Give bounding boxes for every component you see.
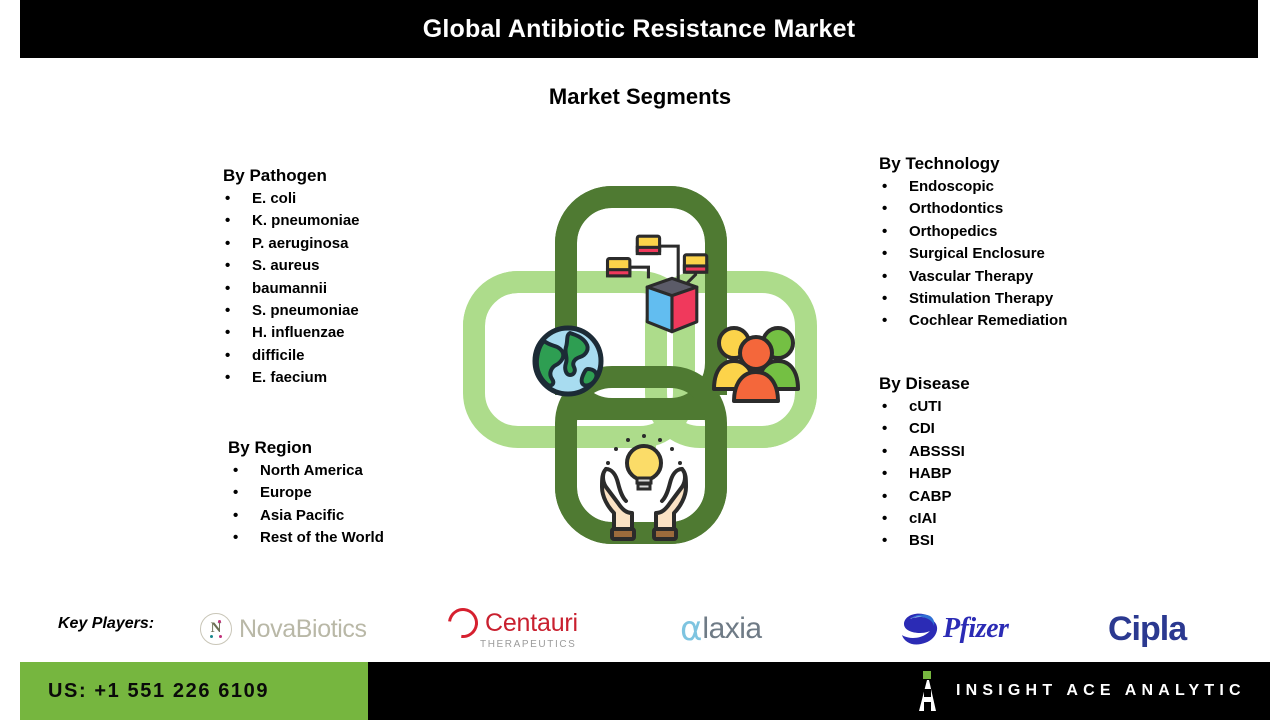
- segment-block-region: By Region •North America •Europe •Asia P…: [228, 437, 384, 550]
- footer-phone-text: US: +1 551 226 6109: [48, 680, 269, 703]
- logo-centauri: Centauri THERAPEUTICS: [448, 596, 578, 662]
- list-item-label: Endoscopic: [909, 178, 994, 195]
- list-item: •Asia Pacific: [228, 505, 384, 527]
- novabiotics-dot-icon: [210, 635, 213, 638]
- segment-heading-region: By Region: [228, 437, 384, 458]
- alaxia-wordmark: laxia: [702, 612, 761, 646]
- list-item-label: K. pneumoniae: [252, 212, 360, 229]
- segment-block-disease: By Disease •cUTI •CDI •ABSSSI •HABP •CAB…: [879, 373, 970, 553]
- bullet-icon: •: [882, 288, 887, 310]
- list-item-label: Surgical Enclosure: [909, 245, 1045, 262]
- centauri-wordmark: Centauri: [485, 609, 578, 638]
- list-item-label: baumannii: [252, 280, 327, 297]
- people-group-icon: [714, 328, 798, 401]
- bullet-icon: •: [882, 396, 887, 418]
- bullet-icon: •: [225, 278, 230, 300]
- novabiotics-dot-icon: [219, 635, 222, 638]
- bullet-icon: •: [233, 482, 238, 504]
- insight-ace-logo-icon: [916, 671, 940, 711]
- list-item: •HABP: [879, 463, 970, 485]
- bullet-icon: •: [882, 243, 887, 265]
- header-bar: Global Antibiotic Resistance Market: [20, 0, 1258, 58]
- list-item: •K. pneumoniae: [222, 210, 360, 232]
- list-item-label: ABSSSI: [909, 443, 965, 460]
- novabiotics-mark-icon: N: [200, 613, 232, 645]
- list-item: •Europe: [228, 482, 384, 504]
- list-item-label: H. influenzae: [252, 324, 345, 341]
- list-item: •S. aureus: [222, 255, 360, 277]
- logo-cipla: Cipla: [1108, 596, 1186, 662]
- bullet-icon: •: [882, 530, 887, 552]
- list-item: •Cochlear Remediation: [879, 310, 1067, 332]
- bullet-icon: •: [225, 367, 230, 389]
- list-item-label: CDI: [909, 420, 935, 437]
- bullet-icon: •: [225, 345, 230, 367]
- centauri-top-row: Centauri: [448, 608, 578, 638]
- list-item-label: Cochlear Remediation: [909, 312, 1067, 329]
- list-item: •E. coli: [222, 188, 360, 210]
- list-item: •ABSSSI: [879, 441, 970, 463]
- list-item-label: Stimulation Therapy: [909, 290, 1053, 307]
- list-item: •North America: [228, 460, 384, 482]
- novabiotics-wordmark: NovaBiotics: [239, 615, 367, 644]
- segment-block-pathogen: By Pathogen •E. coli •K. pneumoniae •P. …: [222, 165, 360, 390]
- segment-heading-disease: By Disease: [879, 373, 970, 394]
- list-item: •baumannii: [222, 278, 360, 300]
- segment-list-region: •North America •Europe •Asia Pacific •Re…: [228, 460, 384, 550]
- bullet-icon: •: [225, 255, 230, 277]
- list-item: •cUTI: [879, 396, 970, 418]
- bullet-icon: •: [225, 188, 230, 210]
- bullet-icon: •: [882, 310, 887, 332]
- pfizer-swirl-icon: [900, 612, 940, 646]
- alaxia-alpha-glyph: α: [680, 612, 702, 646]
- logo-pfizer: Pfizer: [900, 596, 1008, 662]
- list-item-label: Asia Pacific: [260, 507, 344, 524]
- list-item-label: E. coli: [252, 190, 296, 207]
- list-item: •H. influenzae: [222, 322, 360, 344]
- segment-list-pathogen: •E. coli •K. pneumoniae •P. aeruginosa •…: [222, 188, 360, 390]
- bullet-icon: •: [882, 221, 887, 243]
- bullet-icon: •: [233, 505, 238, 527]
- list-item-label: S. pneumoniae: [252, 302, 359, 319]
- list-item-label: Vascular Therapy: [909, 268, 1033, 285]
- list-item: •BSI: [879, 530, 970, 552]
- bullet-icon: •: [225, 322, 230, 344]
- bullet-icon: •: [882, 176, 887, 198]
- bullet-icon: •: [882, 198, 887, 220]
- bullet-icon: •: [233, 460, 238, 482]
- bullet-icon: •: [882, 266, 887, 288]
- bullet-icon: •: [225, 300, 230, 322]
- bullet-icon: •: [882, 486, 887, 508]
- bullet-icon: •: [882, 463, 887, 485]
- list-item: •CDI: [879, 418, 970, 440]
- logo-novabiotics: N NovaBiotics: [200, 596, 367, 662]
- bullet-icon: •: [225, 233, 230, 255]
- logo-alaxia: α laxia: [680, 596, 762, 662]
- novabiotics-mark-letter: N: [201, 620, 231, 637]
- footer-brand-text: INSIGHT ACE ANALYTIC: [956, 682, 1246, 700]
- list-item-label: North America: [260, 462, 363, 479]
- section-subtitle: Market Segments: [0, 84, 1280, 110]
- list-item: •Vascular Therapy: [879, 266, 1067, 288]
- segment-heading-pathogen: By Pathogen: [223, 165, 360, 186]
- list-item-label: Rest of the World: [260, 529, 384, 546]
- bullet-icon: •: [882, 441, 887, 463]
- pfizer-wordmark: Pfizer: [943, 613, 1008, 645]
- list-item-label: CABP: [909, 488, 952, 505]
- list-item: •Endoscopic: [879, 176, 1067, 198]
- list-item: •cIAI: [879, 508, 970, 530]
- segment-heading-technology: By Technology: [879, 153, 1067, 174]
- list-item-label: Orthodontics: [909, 200, 1003, 217]
- list-item: •E. faecium: [222, 367, 360, 389]
- list-item-label: cIAI: [909, 510, 937, 527]
- list-item-label: S. aureus: [252, 257, 320, 274]
- list-item: •CABP: [879, 486, 970, 508]
- segment-list-disease: •cUTI •CDI •ABSSSI •HABP •CABP •cIAI •BS…: [879, 396, 970, 553]
- key-players-label: Key Players:: [58, 615, 154, 633]
- segment-list-technology: •Endoscopic •Orthodontics •Orthopedics •…: [879, 176, 1067, 333]
- list-item-label: Europe: [260, 484, 312, 501]
- list-item-label: Orthopedics: [909, 223, 997, 240]
- list-item-label: cUTI: [909, 398, 942, 415]
- list-item-label: difficile: [252, 347, 305, 364]
- footer-brand-block: INSIGHT ACE ANALYTIC: [916, 662, 1246, 720]
- key-players-row: Key Players: N NovaBiotics Centauri THER…: [0, 596, 1280, 662]
- list-item: •difficile: [222, 345, 360, 367]
- list-item: •Surgical Enclosure: [879, 243, 1067, 265]
- page-title: Global Antibiotic Resistance Market: [423, 15, 856, 44]
- segment-block-technology: By Technology •Endoscopic •Orthodontics …: [879, 153, 1067, 333]
- list-item: •P. aeruginosa: [222, 233, 360, 255]
- cipla-wordmark: Cipla: [1108, 610, 1186, 649]
- list-item: •Stimulation Therapy: [879, 288, 1067, 310]
- bullet-icon: •: [225, 210, 230, 232]
- bullet-icon: •: [882, 418, 887, 440]
- bullet-icon: •: [233, 527, 238, 549]
- list-item: •S. pneumoniae: [222, 300, 360, 322]
- novabiotics-dot-icon: [218, 620, 221, 623]
- list-item-label: HABP: [909, 465, 952, 482]
- bullet-icon: •: [882, 508, 887, 530]
- list-item-label: P. aeruginosa: [252, 235, 348, 252]
- interlocking-rings-graphic: [460, 185, 820, 545]
- list-item-label: BSI: [909, 532, 934, 549]
- list-item: •Rest of the World: [228, 527, 384, 549]
- list-item: •Orthodontics: [879, 198, 1067, 220]
- list-item: •Orthopedics: [879, 221, 1067, 243]
- list-item-label: E. faecium: [252, 369, 327, 386]
- centauri-tagline: THERAPEUTICS: [480, 639, 576, 650]
- footer-phone-block: US: +1 551 226 6109: [20, 662, 368, 720]
- globe-icon: [535, 328, 601, 394]
- centauri-crescent-icon: [442, 602, 484, 644]
